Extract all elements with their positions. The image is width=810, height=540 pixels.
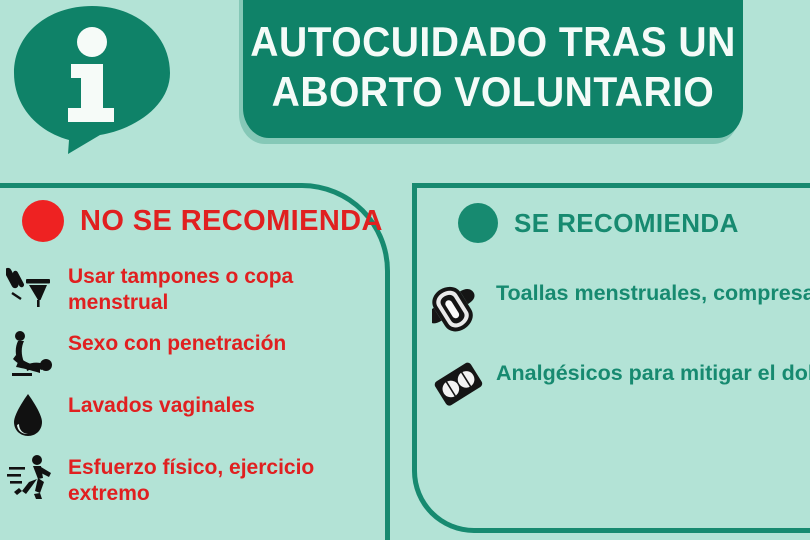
poster-header: AUTOCUIDADO TRAS UN ABORTO VOLUNTARIO (0, 0, 810, 180)
red-circle-bullet (22, 200, 64, 242)
tampon-menstrual-cup-icon (6, 262, 58, 310)
list-item: Esfuerzo físico, ejercicio extremo (6, 453, 386, 506)
list-item-label: Toallas menstruales, compresas para pode… (496, 278, 810, 306)
not-recommended-list: Usar tampones o copa menstrual Sexo co (6, 262, 386, 520)
page-title-line-2: ABORTO VOLUNTARIO (272, 67, 715, 117)
list-item-label: Sexo con penetración (68, 329, 286, 357)
recommended-title: SE RECOMIENDA (514, 208, 739, 239)
green-circle-bullet (458, 203, 498, 243)
list-item: Lavados vaginales (6, 391, 386, 439)
running-person-icon (6, 453, 58, 501)
list-item: Usar tampones o copa menstrual (6, 262, 386, 315)
page-title-line-1: AUTOCUIDADO TRAS UN (250, 17, 736, 67)
recommended-heading: SE RECOMIENDA (458, 203, 739, 243)
water-droplet-icon (6, 391, 58, 439)
list-item-label: Analgésicos para mitigar el dolor (496, 358, 810, 386)
list-item: Analgésicos para mitigar el dolor (432, 358, 810, 412)
info-speech-bubble-icon (8, 2, 176, 158)
list-item: Sexo con penetración (6, 329, 386, 377)
pill-blister-icon (432, 358, 486, 412)
recommended-list: Toallas menstruales, compresas para pode… (432, 278, 810, 438)
not-recommended-title: NO SE RECOMIENDA (80, 205, 383, 238)
infographic-poster: AUTOCUIDADO TRAS UN ABORTO VOLUNTARIO NO… (0, 0, 810, 540)
not-recommended-heading: NO SE RECOMIENDA (22, 200, 383, 242)
poster-title-banner: AUTOCUIDADO TRAS UN ABORTO VOLUNTARIO (243, 0, 743, 138)
list-item-label: Usar tampones o copa menstrual (68, 262, 386, 315)
list-item-label: Esfuerzo físico, ejercicio extremo (68, 453, 386, 506)
sexual-intercourse-icon (6, 329, 58, 377)
list-item-label: Lavados vaginales (68, 391, 255, 419)
list-item: Toallas menstruales, compresas para pode… (432, 278, 810, 332)
sanitary-pad-icon (432, 278, 486, 332)
